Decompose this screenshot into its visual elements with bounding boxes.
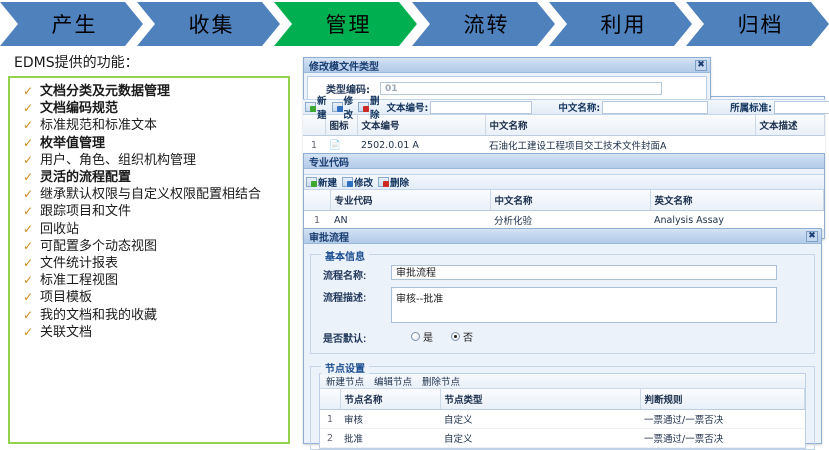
text-no-input[interactable] bbox=[430, 101, 532, 114]
check-icon: ✓ bbox=[16, 135, 40, 152]
feature-item: ✓文件统计报表 bbox=[16, 255, 282, 272]
dialog-major-code-title: 专业代码 bbox=[309, 154, 821, 169]
table-cell: 一票通过/一票否决 bbox=[640, 410, 805, 429]
table-cell: 1 bbox=[303, 136, 325, 155]
table-cell: 石油化工建设工程项目交工技术文件封面A bbox=[485, 136, 755, 155]
new-button-label: 新建 bbox=[318, 175, 337, 189]
delete-button-label: 删除 bbox=[390, 175, 409, 189]
chevron-step-3[interactable]: 管理 bbox=[274, 2, 417, 46]
text-no-field: 文本编号: bbox=[387, 100, 533, 114]
radio-yes[interactable]: 是 bbox=[411, 329, 433, 344]
column-header[interactable] bbox=[304, 190, 330, 211]
feature-item: ✓跟踪项目和文件 bbox=[16, 203, 282, 220]
chevron-step-label: 管理 bbox=[320, 9, 372, 39]
flow-desc-row: 流程描述: 审核--批准 bbox=[319, 287, 806, 323]
feature-label: 用户、角色、组织机构管理 bbox=[40, 152, 282, 169]
chevron-step-6[interactable]: 归档 bbox=[686, 2, 829, 46]
radio-yes-label: 是 bbox=[423, 329, 433, 344]
column-header[interactable]: 中文名称 bbox=[485, 115, 755, 136]
flow-desc-textarea[interactable]: 审核--批准 bbox=[391, 287, 777, 323]
new-button[interactable]: 新建 bbox=[306, 175, 337, 189]
check-icon: ✓ bbox=[16, 255, 40, 272]
column-header[interactable]: 英文名称 bbox=[650, 190, 824, 211]
feature-item: ✓可配置多个动态视图 bbox=[16, 238, 282, 255]
check-icon: ✓ bbox=[16, 117, 40, 134]
file-type-list-toolbar-strip: 新建 修改 删除 文本编号: 中文名称: 所属标准: 图标文本编号中文名称文本描… bbox=[303, 99, 825, 155]
feature-label: 枚举值管理 bbox=[40, 135, 282, 152]
check-icon: ✓ bbox=[16, 221, 40, 238]
page-title: EDMS提供的功能： bbox=[14, 52, 296, 72]
radio-yes-dot bbox=[411, 332, 420, 341]
edit-button-label: 修改 bbox=[354, 175, 373, 189]
column-header[interactable]: 中文名称 bbox=[490, 190, 650, 211]
table-row[interactable]: 1AN分析化验Analysis Assay bbox=[304, 211, 824, 230]
table-cell: Analysis Assay bbox=[650, 211, 824, 230]
edit-button-label: 修改 bbox=[344, 93, 354, 121]
process-chevron-banner: 产生收集管理流转利用归档 bbox=[0, 2, 829, 46]
column-header[interactable] bbox=[320, 389, 340, 410]
delete-button-label: 删除 bbox=[370, 93, 380, 121]
table-cell: 审核 bbox=[340, 410, 440, 429]
standard-label: 所属标准: bbox=[730, 100, 772, 114]
major-code-toolbar: 新建 修改 删除 bbox=[304, 174, 824, 190]
edit-icon bbox=[342, 177, 353, 187]
table-row[interactable]: 2批准自定义一票通过/一票否决 bbox=[320, 429, 805, 448]
chevron-step-label: 流转 bbox=[458, 9, 510, 39]
is-default-label: 是否默认: bbox=[319, 328, 391, 345]
flow-desc-label: 流程描述: bbox=[319, 287, 391, 304]
table-cell: 分析化验 bbox=[490, 211, 650, 230]
new-button[interactable]: 新建 bbox=[305, 93, 327, 121]
chevron-step-4[interactable]: 流转 bbox=[412, 2, 555, 46]
chevron-step-label: 利用 bbox=[595, 9, 647, 39]
radio-no-dot bbox=[451, 332, 460, 341]
file-type-grid[interactable]: 图标文本编号中文名称文本描述1📄2502.0.01 A石油化工建设工程项目交工技… bbox=[303, 115, 825, 155]
delete-button[interactable]: 删除 bbox=[358, 93, 380, 121]
feature-item: ✓枚举值管理 bbox=[16, 135, 282, 152]
basic-info-legend: 基本信息 bbox=[321, 248, 369, 263]
feature-item: ✓标准规范和标准文本 bbox=[16, 117, 282, 134]
feature-item: ✓回收站 bbox=[16, 221, 282, 238]
dialog-approval-workflow-titlebar: 审批流程 ✖ bbox=[304, 229, 821, 244]
chevron-step-label: 收集 bbox=[183, 9, 235, 39]
feature-label: 跟踪项目和文件 bbox=[40, 203, 282, 220]
chevron-step-label: 归档 bbox=[732, 9, 784, 39]
is-default-radio-group[interactable]: 是 否 bbox=[391, 328, 485, 344]
new-icon bbox=[306, 177, 317, 187]
column-header[interactable]: 文本编号 bbox=[357, 115, 485, 136]
check-icon: ✓ bbox=[16, 100, 40, 117]
feature-label: 回收站 bbox=[40, 221, 282, 238]
feature-item: ✓文档分类及元数据管理 bbox=[16, 83, 282, 100]
feature-label: 项目模板 bbox=[40, 289, 282, 306]
feature-item: ✓文档编码规范 bbox=[16, 100, 282, 117]
feature-item: ✓项目模板 bbox=[16, 289, 282, 306]
column-header[interactable]: 专业代码 bbox=[330, 190, 490, 211]
column-header[interactable]: 节点名称 bbox=[340, 389, 440, 410]
check-icon: ✓ bbox=[16, 289, 40, 306]
chevron-step-5[interactable]: 利用 bbox=[549, 2, 692, 46]
feature-item: ✓关联文档 bbox=[16, 324, 282, 341]
chevron-step-label: 产生 bbox=[46, 9, 98, 39]
close-icon[interactable]: ✖ bbox=[806, 231, 818, 242]
check-icon: ✓ bbox=[16, 203, 40, 220]
node-grid[interactable]: 节点名称节点类型判断规则1审核自定义一票通过/一票否决2批准自定义一票通过/一票… bbox=[320, 389, 805, 448]
flow-name-row: 流程名称: 审批流程 bbox=[319, 265, 806, 282]
node-settings-fieldset: 节点设置 新建节点 编辑节点 删除节点 节点名称节点类型判断规则1审核自定义一票… bbox=[310, 366, 815, 450]
new-button-label: 新建 bbox=[317, 93, 327, 121]
new-icon bbox=[305, 102, 316, 112]
type-code-input[interactable]: 01 bbox=[380, 82, 662, 95]
chevron-step-2[interactable]: 收集 bbox=[137, 2, 280, 46]
table-row[interactable]: 1审核自定义一票通过/一票否决 bbox=[320, 410, 805, 429]
feature-item: ✓继承默认权限与自定义权限配置相结合 bbox=[16, 186, 282, 203]
left-panel: EDMS提供的功能： ✓文档分类及元数据管理✓文档编码规范✓标准规范和标准文本✓… bbox=[8, 52, 296, 444]
radio-no-label: 否 bbox=[463, 329, 473, 344]
table-cell: 自定义 bbox=[440, 410, 640, 429]
file-type-toolbar: 新建 修改 删除 文本编号: 中文名称: 所属标准: bbox=[303, 99, 825, 115]
node-toolbar: 新建节点 编辑节点 删除节点 bbox=[320, 374, 805, 389]
edit-button[interactable]: 修改 bbox=[342, 175, 373, 189]
flow-name-label: 流程名称: bbox=[319, 265, 391, 282]
check-icon: ✓ bbox=[16, 169, 40, 186]
edit-icon bbox=[332, 102, 343, 112]
feature-item: ✓用户、角色、组织机构管理 bbox=[16, 152, 282, 169]
feature-label: 文档分类及元数据管理 bbox=[40, 83, 282, 100]
feature-label: 可配置多个动态视图 bbox=[40, 238, 282, 255]
edit-node-button[interactable]: 编辑节点 bbox=[374, 374, 412, 388]
feature-list-box: ✓文档分类及元数据管理✓文档编码规范✓标准规范和标准文本✓枚举值管理✓用户、角色… bbox=[8, 76, 290, 444]
dialog-major-code[interactable]: 专业代码 新建 修改 删除 专业代码中文名称英文名称1AN分析化验Analysi… bbox=[303, 153, 825, 239]
table-cell: 2 bbox=[320, 429, 340, 448]
feature-list: ✓文档分类及元数据管理✓文档编码规范✓标准规范和标准文本✓枚举值管理✓用户、角色… bbox=[16, 83, 282, 341]
feature-label: 继承默认权限与自定义权限配置相结合 bbox=[40, 186, 282, 203]
column-header[interactable]: 文本描述 bbox=[755, 115, 825, 136]
cn-name-input[interactable] bbox=[602, 101, 708, 114]
table-cell: AN bbox=[330, 211, 490, 230]
feature-label: 灵活的流程配置 bbox=[40, 169, 282, 186]
standard-field: 所属标准: bbox=[730, 100, 829, 114]
standard-input[interactable] bbox=[774, 101, 829, 114]
column-header[interactable]: 判断规则 bbox=[640, 389, 805, 410]
dialog-file-type-title: 修改模文件类型 bbox=[309, 58, 695, 73]
check-icon: ✓ bbox=[16, 324, 40, 341]
check-icon: ✓ bbox=[16, 238, 40, 255]
major-code-grid[interactable]: 专业代码中文名称英文名称1AN分析化验Analysis Assay bbox=[304, 190, 824, 230]
basic-info-fieldset: 基本信息 流程名称: 审批流程 流程描述: 审核--批准 是否默认: 是 否 bbox=[310, 254, 815, 354]
delete-button[interactable]: 删除 bbox=[378, 175, 409, 189]
check-icon: ✓ bbox=[16, 83, 40, 100]
node-settings-legend: 节点设置 bbox=[321, 360, 369, 375]
table-cell: 一票通过/一票否决 bbox=[640, 429, 805, 448]
feature-item: ✓我的文档和我的收藏 bbox=[16, 307, 282, 324]
dialog-approval-workflow-title: 审批流程 bbox=[309, 229, 806, 244]
delete-icon bbox=[378, 177, 389, 187]
column-header[interactable]: 节点类型 bbox=[440, 389, 640, 410]
table-cell: 1 bbox=[320, 410, 340, 429]
table-row[interactable]: 1📄2502.0.01 A石油化工建设工程项目交工技术文件封面A bbox=[303, 136, 825, 155]
dialog-approval-workflow[interactable]: 审批流程 ✖ 基本信息 流程名称: 审批流程 流程描述: 审核--批准 是否默认… bbox=[303, 228, 822, 444]
text-no-label: 文本编号: bbox=[387, 100, 429, 114]
feature-label: 文件统计报表 bbox=[40, 255, 282, 272]
table-cell: 自定义 bbox=[440, 429, 640, 448]
feature-label: 标准规范和标准文本 bbox=[40, 117, 282, 134]
table-cell: 1 bbox=[304, 211, 330, 230]
flow-name-input[interactable]: 审批流程 bbox=[391, 265, 777, 280]
dialog-file-type-titlebar: 修改模文件类型 ✖ bbox=[304, 58, 710, 73]
table-cell: 2502.0.01 A bbox=[357, 136, 485, 155]
table-cell bbox=[755, 136, 825, 155]
chevron-step-1[interactable]: 产生 bbox=[0, 2, 143, 46]
feature-item: ✓标准工程视图 bbox=[16, 272, 282, 289]
table-cell: 批准 bbox=[340, 429, 440, 448]
cn-name-field: 中文名称: bbox=[558, 100, 708, 114]
check-icon: ✓ bbox=[16, 272, 40, 289]
check-icon: ✓ bbox=[16, 307, 40, 324]
delete-icon bbox=[358, 102, 369, 112]
radio-no[interactable]: 否 bbox=[451, 329, 473, 344]
new-node-button[interactable]: 新建节点 bbox=[326, 374, 364, 388]
cn-name-label: 中文名称: bbox=[558, 100, 600, 114]
feature-item: ✓灵活的流程配置 bbox=[16, 169, 282, 186]
check-icon: ✓ bbox=[16, 186, 40, 203]
dialog-major-code-titlebar: 专业代码 bbox=[304, 154, 824, 169]
is-default-row: 是否默认: 是 否 bbox=[319, 328, 806, 345]
close-icon[interactable]: ✖ bbox=[695, 60, 707, 71]
check-icon: ✓ bbox=[16, 152, 40, 169]
feature-label: 我的文档和我的收藏 bbox=[40, 307, 282, 324]
delete-node-button[interactable]: 删除节点 bbox=[422, 374, 460, 388]
feature-label: 文档编码规范 bbox=[40, 100, 282, 117]
edit-button[interactable]: 修改 bbox=[332, 93, 354, 121]
feature-label: 标准工程视图 bbox=[40, 272, 282, 289]
feature-label: 关联文档 bbox=[40, 324, 282, 341]
document-icon: 📄 bbox=[325, 136, 357, 155]
